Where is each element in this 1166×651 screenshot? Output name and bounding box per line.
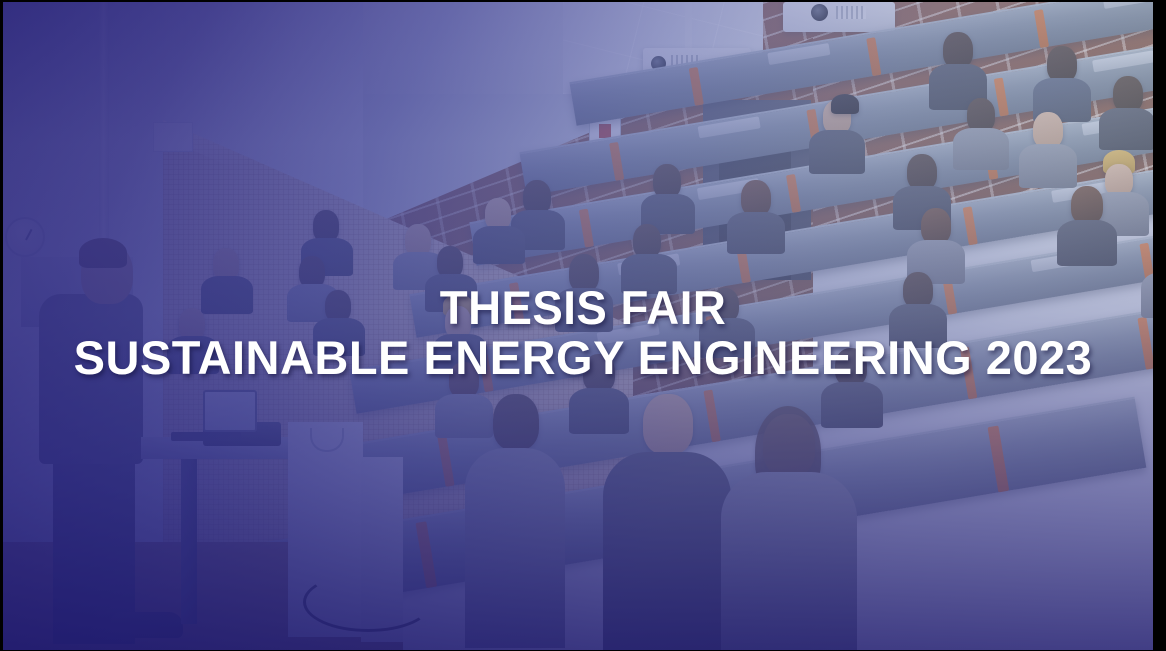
banner-title: THESIS FAIR SUSTAINABLE ENERGY ENGINEERI… [0, 283, 1166, 383]
event-banner: THESIS FAIR SUSTAINABLE ENERGY ENGINEERI… [0, 0, 1166, 651]
frame-edge-left [0, 0, 3, 651]
frame-edge-top [0, 0, 1166, 2]
title-line-2: SUSTAINABLE ENERGY ENGINEERING 2023 [0, 333, 1166, 383]
frame-edge-right [1153, 0, 1166, 651]
title-line-1: THESIS FAIR [17, 283, 1148, 333]
